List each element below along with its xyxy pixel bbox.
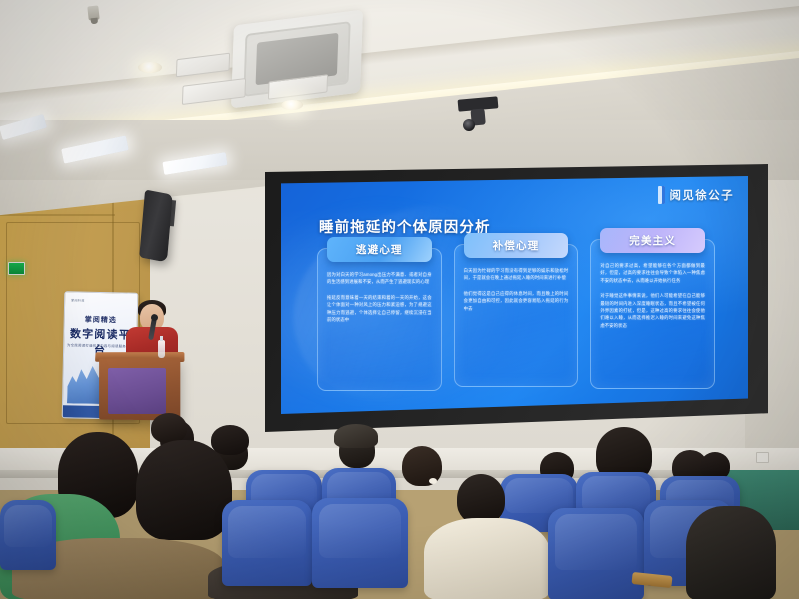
- lecture-hall-photo: 阅见徐公子 睡前拖延的个体原因分析 逃避心理 因为对白天的学习among出压力不…: [0, 0, 799, 599]
- emergency-exit-sign: [8, 262, 25, 275]
- card-tab: 完美主义: [600, 228, 705, 253]
- card-paragraph: 他们觉得这是自己应得的休息时间，而且晚上的时间会更加自由和可控，因此就会更容易陷…: [464, 290, 569, 312]
- auditorium-seat[interactable]: [312, 498, 408, 588]
- card-tab: 逃避心理: [327, 237, 432, 262]
- wall-outlet: [756, 452, 769, 463]
- auditorium-seat[interactable]: [0, 500, 56, 570]
- audience-shoulders: [424, 518, 550, 599]
- banner-line-1: 掌阅精选: [65, 314, 137, 326]
- banner-top-note: 掌阅科技: [71, 298, 85, 302]
- slide-logo-text: 阅见徐公子: [670, 187, 735, 203]
- auditorium-seat[interactable]: [222, 500, 312, 586]
- auditorium-seat[interactable]: [548, 508, 644, 599]
- slide-card: 完美主义 对自己的要求过高，希望能够在各个方面都做到最好，但是，过高的要求往往会…: [590, 239, 715, 389]
- slide-card: 逃避心理 因为对白天的学习among出压力不满意、或者对自身的生活感到进展和不安…: [317, 248, 442, 391]
- water-bottle: [158, 340, 165, 358]
- card-paragraph: 白天因为忙碌的学习而没有得到足够的娱乐和放松时间，于是就会在晚上通过拖延入睡的时…: [464, 267, 569, 282]
- ceiling-downlight: [138, 62, 162, 73]
- card-paragraph: 对于睡觉这件事情来说，他们人可能希望在自己能够最短的时间内进入深度睡眠状态，而且…: [600, 292, 705, 329]
- card-tab: 补偿心理: [464, 233, 569, 258]
- card-tab-label: 补偿心理: [493, 238, 540, 253]
- audience-head: [457, 474, 505, 524]
- card-paragraph: 拖延反而意味着一天的结束和着的一天的开始，这会让个体面对一种对风上的压力和紧迫感…: [327, 294, 432, 324]
- audience-head: [151, 413, 187, 443]
- audience-shoulders: [686, 506, 776, 599]
- ceiling-downlight: [281, 100, 303, 110]
- slide-title: 睡前拖延的个体原因分析: [319, 216, 491, 237]
- podium-front-panel: [108, 368, 166, 414]
- camera-lens: [463, 119, 475, 131]
- wall-speaker-icon: [139, 189, 173, 262]
- card-paragraph: 对自己的要求过高，希望能够在各个方面都做到最好，但是，过高的要求往往会导致个体陷…: [600, 262, 705, 284]
- card-paragraph: 因为对白天的学习among出压力不满意、或者对自身的生活感到进展和不安，从而产生…: [327, 271, 432, 286]
- card-tab-label: 逃避心理: [356, 242, 403, 257]
- card-tab-label: 完美主义: [629, 233, 676, 248]
- hair-tie: [429, 478, 437, 484]
- audience-head: [211, 425, 249, 455]
- slide-card: 补偿心理 白天因为忙碌的学习而没有得到足够的娱乐和放松时间，于是就会在晚上通过拖…: [454, 244, 579, 387]
- logo-mark-icon: [658, 186, 665, 204]
- presentation-slide[interactable]: 阅见徐公子 睡前拖延的个体原因分析 逃避心理 因为对白天的学习among出压力不…: [281, 176, 748, 414]
- slide-card-row: 逃避心理 因为对白天的学习among出压力不满意、或者对自身的生活感到进展和不安…: [317, 248, 715, 398]
- slide-logo: 阅见徐公子: [658, 186, 735, 204]
- wood-panel-seam: [0, 214, 115, 216]
- fire-sprinkler-icon: [87, 5, 99, 20]
- audience-cap: [334, 424, 378, 448]
- audience-head: [136, 440, 232, 540]
